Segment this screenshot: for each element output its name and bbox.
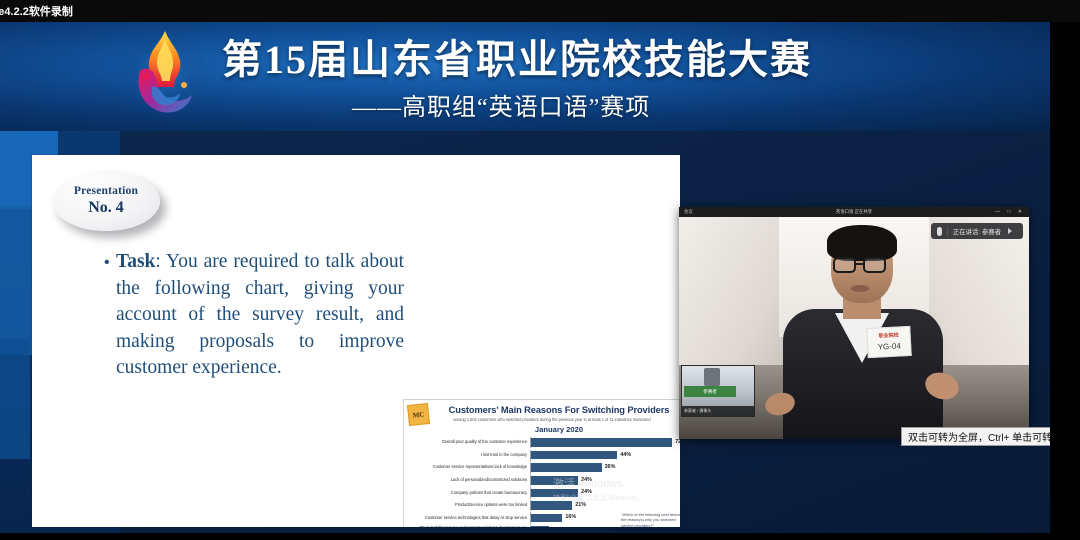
bottom-black-gutter [0, 533, 1080, 540]
chart-bar-value: 36% [605, 464, 616, 470]
task-text-block: • Task: You are required to talk about t… [104, 249, 404, 382]
eyeglasses-left-lens [833, 257, 856, 273]
chart-period-label: January 2020 [428, 425, 680, 434]
eyeglasses-right-lens [863, 257, 886, 273]
chart-bar-track: 44% [530, 450, 680, 461]
fullscreen-tooltip: 双击可转为全屏，Ctrl+ 单击可转为 [901, 427, 1069, 446]
chart-bar-label: Company policies that create bureaucracy [410, 491, 530, 496]
decor-block-d [0, 339, 30, 459]
bullet-glyph: • [104, 255, 110, 271]
window-controls[interactable]: — □ ✕ [995, 209, 1025, 215]
chart-bar-row: Customer service representatives lack of… [410, 462, 680, 473]
chart-bar-value: 72% [675, 439, 680, 445]
decor-block-c [0, 205, 36, 355]
chip-divider [947, 227, 948, 236]
video-window-titlebar[interactable]: 会议 英语口语 正在共享 — □ ✕ [679, 207, 1029, 217]
eyeglasses-bridge [856, 263, 863, 265]
badge-line-presentation: Presentation [74, 185, 138, 197]
active-speaker-label: 正在讲话: 参赛者 [953, 227, 1001, 236]
presentation-background: 第15届山东省职业院校技能大赛 ——高职组“英语口语”赛项 Presentati… [0, 9, 1080, 533]
thumbnail-object [704, 368, 720, 386]
chart-bar-fill [531, 514, 562, 523]
active-speaker-indicator: 正在讲话: 参赛者 [931, 223, 1023, 239]
watermark-line-2: 转到“设置”以激活 Windows。 [553, 493, 644, 503]
chart-title: Customers' Main Reasons For Switching Pr… [428, 405, 680, 415]
chart-bar-label: Customer service representatives lack of… [410, 465, 530, 470]
chart-bar-fill [531, 438, 672, 447]
speaker-video-feed[interactable]: 职业院校 YG-04 正在讲话: 参赛者 [679, 217, 1029, 439]
chart-annotation: "Which of the following best describe th… [621, 512, 680, 527]
room-wall-left [679, 217, 791, 367]
microphone-icon [937, 227, 942, 236]
speaker-hair [827, 225, 897, 261]
marketingcharts-logo-icon: MC [407, 403, 430, 426]
thumbnail-name-label: 参赛者 / 摄像头 [682, 406, 754, 416]
chart-bar-label: I lost trust in the company [410, 453, 530, 458]
chart-subtitle: among 1,004 customers who switched provi… [416, 417, 680, 422]
chart-bar-fill [531, 463, 602, 472]
name-badge-org: 职业院校 [868, 331, 910, 340]
presentation-number-badge: Presentation No. 4 [52, 171, 160, 231]
chart-bar-value: 44% [620, 452, 631, 458]
badge-line-number: No. 4 [88, 199, 124, 217]
chart-bar-label: Their mobility service and support solut… [410, 526, 530, 527]
chart-bar-label: Customer service technologies that delay… [410, 516, 530, 521]
chart-bar-label: Product/service options were too limited [410, 503, 530, 508]
windows-activation-watermark: 激活 Windows 转到“设置”以激活 Windows。 [553, 475, 644, 503]
chart-bar-track: 72% [530, 437, 680, 448]
video-window-title: 英语口语 正在共享 [679, 209, 1029, 215]
speaker-name-badge: 职业院校 YG-04 [866, 326, 912, 358]
name-badge-number: YG-04 [868, 341, 910, 352]
chart-bar-label: Overall poor quality of the customer exp… [410, 440, 530, 445]
video-conference-window[interactable]: 会议 英语口语 正在共享 — □ ✕ 职业院校 YG-04 [679, 207, 1029, 439]
recorder-software-label: re4.2.2软件录制 [0, 3, 73, 19]
speaker-icon [1008, 227, 1017, 236]
watermark-line-1: 激活 Windows [553, 475, 644, 491]
page-title: 第15届山东省职业院校技能大赛 [222, 27, 922, 85]
chart-bar-fill [531, 526, 549, 527]
participant-thumbnail[interactable]: 参赛者 参赛者 / 摄像头 [681, 365, 755, 417]
title-banner: 第15届山东省职业院校技能大赛 ——高职组“英语口语”赛项 [0, 9, 1080, 131]
page-subtitle: ——高职组“英语口语”赛项 [352, 87, 650, 122]
screen-capture: 第15届山东省职业院校技能大赛 ——高职组“英语口语”赛项 Presentati… [0, 0, 1080, 540]
flame-emblem-logo [122, 27, 208, 117]
chart-image: MC Customers' Main Reasons For Switching… [403, 399, 680, 527]
chart-bar-row: Overall poor quality of the customer exp… [410, 437, 680, 448]
chart-bar-label: Lack of personalized/customized solution… [410, 478, 530, 483]
right-black-gutter [1050, 0, 1080, 540]
thumbnail-green-label: 参赛者 [684, 386, 736, 397]
chart-bar-value: 16% [565, 514, 576, 520]
task-paragraph: Task: You are required to talk about the… [116, 249, 404, 382]
task-label: Task [116, 251, 155, 272]
task-body: : You are required to talk about the fol… [116, 251, 404, 378]
chart-bar-fill [531, 451, 617, 460]
chart-bar-track: 36% [530, 462, 680, 473]
slide-canvas: Presentation No. 4 • Task: You are requi… [32, 155, 680, 527]
speaker-mouth [851, 285, 869, 292]
chart-bar-row: I lost trust in the company44% [410, 450, 680, 461]
recorder-top-strip: re4.2.2软件录制 [0, 0, 1080, 22]
